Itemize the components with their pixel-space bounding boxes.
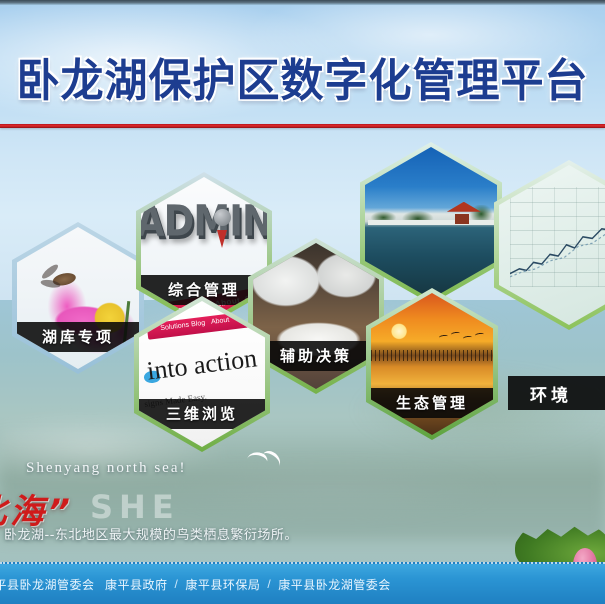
tile-ecological-management-label: 生态管理 <box>371 388 493 418</box>
footer-separator-2: / <box>267 577 271 591</box>
pavilion-body <box>455 214 469 224</box>
caption-chinese-subtitle: 卧龙湖--东北地区最大规模的鸟类栖息繁衍场所。 <box>4 524 298 543</box>
tile-decision-support-label: 辅助决策 <box>253 341 379 371</box>
tile-environment-label: 环境 <box>530 381 572 406</box>
tile-decision-support-inner: 辅助决策 <box>253 243 379 389</box>
tile-scenic-pavilion-inner <box>365 147 497 299</box>
tile-three-d-browse-label: 三维浏览 <box>139 399 265 429</box>
window-top-edge <box>0 0 605 5</box>
web-nav-item-0: Solutions <box>160 322 189 332</box>
chart-trend-line <box>510 216 605 280</box>
caption-ghost-text: SHE <box>90 488 180 526</box>
bridge-railing <box>368 220 495 225</box>
masthead: 卧龙湖保护区数字化管理平台 <box>0 44 605 110</box>
page-root: 卧龙湖保护区数字化管理平台 湖库专项 ADMIN Solutions Blog … <box>0 0 605 604</box>
tile-three-d-browse-inner: Solutions Blog About Con into action sig… <box>139 301 265 447</box>
footer-owner: 康平县卧龙湖管委会 <box>0 576 95 593</box>
bird-flock-icon <box>438 331 487 351</box>
tile-environment-label-band: 环境 <box>508 376 605 410</box>
page-title: 卧龙湖保护区数字化管理平台 <box>17 44 589 109</box>
seagull-icon <box>247 452 283 470</box>
footer-link-government[interactable]: 康平县政府 <box>105 576 168 593</box>
bee-icon <box>42 266 79 293</box>
web-nav-item-2: About <box>210 317 229 326</box>
pavilion-lake-image <box>365 147 497 299</box>
footer-link-epb[interactable]: 康平县环保局 <box>185 576 260 593</box>
into-action-headline: into action <box>145 344 258 387</box>
footer-link-committee[interactable]: 康平县卧龙湖管委会 <box>278 576 391 593</box>
tile-lake-reservoir-inner: 湖库专项 <box>17 227 139 369</box>
footer-bar: 康平县卧龙湖管委会 康平县政府 / 康平县环保局 / 康平县卧龙湖管委会 <box>0 562 605 604</box>
footer-separator-1: / <box>175 577 179 591</box>
admin-wordmark: ADMIN <box>141 196 267 245</box>
necktie-icon <box>217 230 227 248</box>
caption-english: Shenyang north sea! <box>26 460 186 477</box>
reed-line <box>371 350 493 361</box>
footer-links: 康平县政府 / 康平县环保局 / 康平县卧龙湖管委会 <box>105 576 391 593</box>
tile-lake-reservoir-label: 湖库专项 <box>17 322 139 352</box>
tile-ecological-management-inner: 生态管理 <box>371 293 493 435</box>
web-nav-item-1: Blog <box>190 320 205 329</box>
header-red-rule <box>0 124 605 128</box>
